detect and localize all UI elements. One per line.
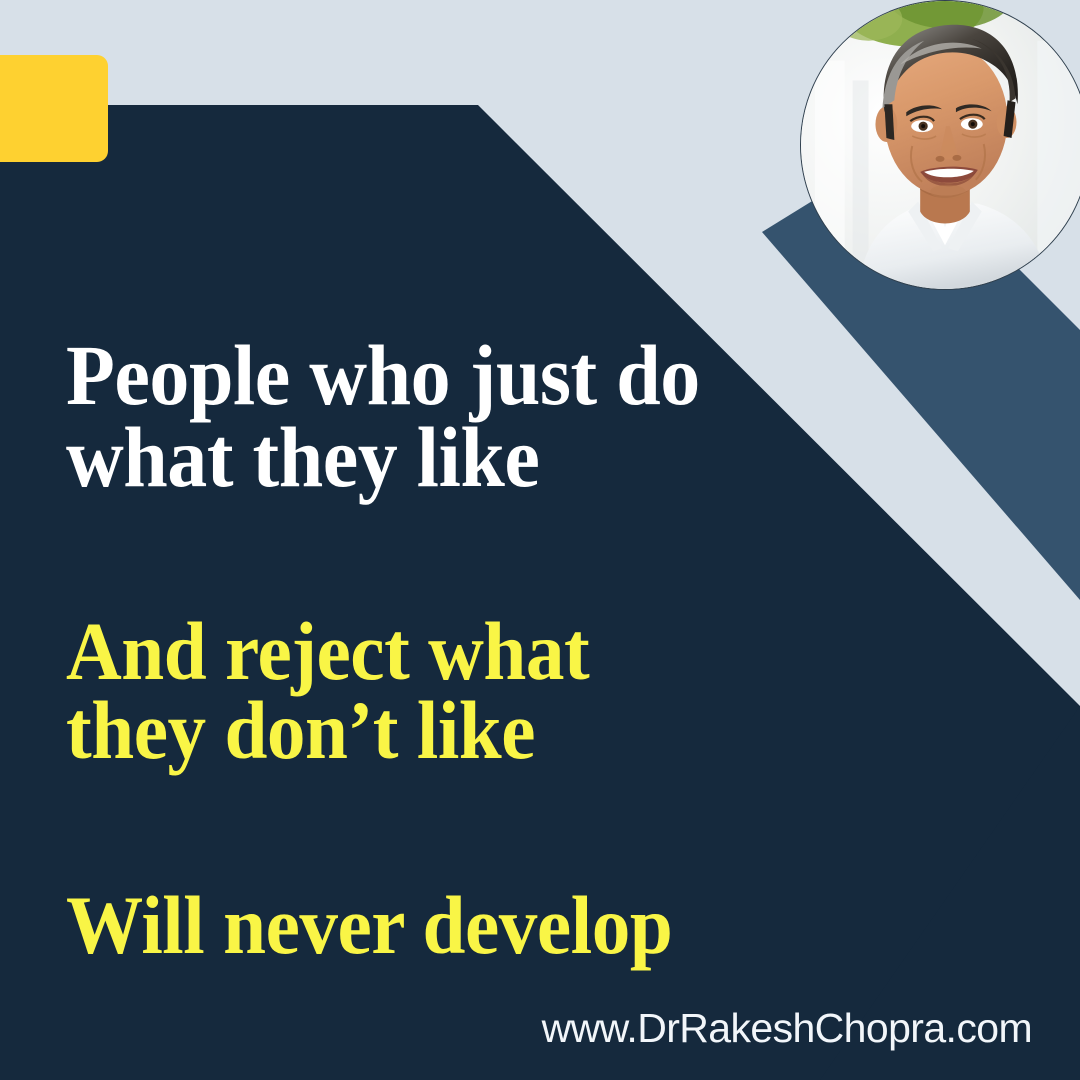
quote-card: People who just do what they like And re… <box>0 0 1080 1080</box>
portrait-photo <box>801 1 1080 289</box>
quote-line-primary: People who just do what they like <box>66 335 700 498</box>
avatar <box>800 0 1080 290</box>
quote-line-secondary: And reject what they don’t like <box>66 612 589 770</box>
yellow-accent-block <box>0 55 108 162</box>
quote-line-conclusion: Will never develop <box>66 886 672 965</box>
website-url[interactable]: www.DrRakeshChopra.com <box>542 1005 1032 1052</box>
